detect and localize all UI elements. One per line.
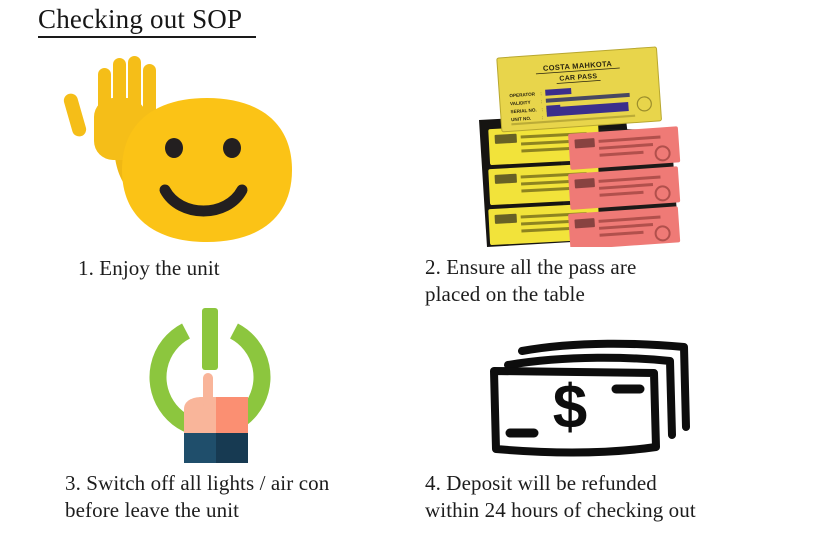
- step-2-caption-line-1: 2. Ensure all the pass are: [425, 255, 636, 279]
- step-1-caption-line-1: 1. Enjoy the unit: [78, 256, 220, 280]
- car-pass-photo: COSTA MAHKOTA CAR PASS OPERATOR : VALIDI…: [465, 42, 695, 247]
- car-pass-card: COSTA MAHKOTA CAR PASS OPERATOR : VALIDI…: [497, 47, 662, 132]
- step-2-caption-line-2: placed on the table: [425, 282, 585, 306]
- dollar-sign: $: [553, 373, 587, 442]
- step-4-caption-line-1: 4. Deposit will be refunded: [425, 471, 657, 495]
- page-title-container: Checking out SOP: [38, 2, 458, 42]
- step-4-caption: 4. Deposit will be refunded within 24 ho…: [425, 470, 810, 524]
- step-4-caption-line-2: within 24 hours of checking out: [425, 498, 696, 522]
- step-1-caption: 1. Enjoy the unit: [78, 255, 408, 282]
- step-2-caption: 2. Ensure all the pass are placed on the…: [425, 254, 805, 308]
- step-3-caption-line-1: 3. Switch off all lights / air con: [65, 471, 329, 495]
- step-3-caption: 3. Switch off all lights / air con befor…: [65, 470, 415, 524]
- page-title: Checking out SOP: [38, 2, 256, 38]
- banknotes-icon: $: [480, 323, 720, 463]
- waving-smiley-icon: [52, 50, 302, 250]
- pink-card-stack: [568, 126, 680, 247]
- step-3-caption-line-2: before leave the unit: [65, 498, 239, 522]
- power-button-icon: [140, 305, 280, 465]
- sop-poster: Checking out SOP: [0, 0, 820, 560]
